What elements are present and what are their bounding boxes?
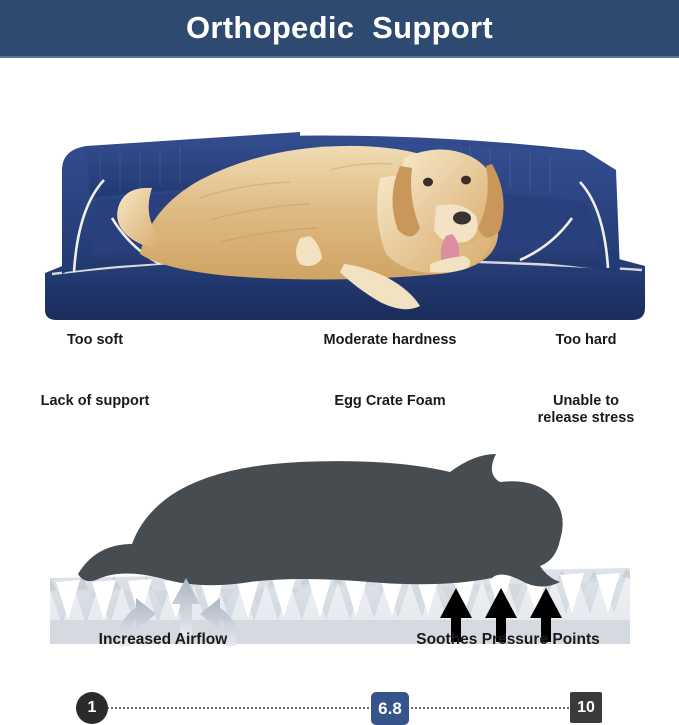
product-photo xyxy=(0,58,679,326)
scale-middle-bottom-label: Egg Crate Foam xyxy=(295,393,485,410)
scale-marker-moderate: 6.8 xyxy=(371,692,409,725)
header-banner: Orthopedic Support xyxy=(0,0,679,58)
scale-dotted-line xyxy=(96,707,580,709)
foam-diagram: Increased Airflow Soothes Pressure Point… xyxy=(0,432,679,658)
scale-marker-soft: 1 xyxy=(76,692,108,724)
product-infographic: Orthopedic Support xyxy=(0,0,679,658)
pressure-caption: Soothes Pressure Points xyxy=(378,631,638,649)
page-title: Orthopedic Support xyxy=(186,10,493,46)
hardness-scale: Too soft 1 Lack of support Moderate hard… xyxy=(0,332,679,430)
scale-left-top-label: Too soft xyxy=(25,332,165,349)
scale-left-bottom-label: Lack of support xyxy=(15,393,175,410)
airflow-caption: Increased Airflow xyxy=(38,631,288,649)
scale-right-top-label: Too hard xyxy=(516,332,656,349)
scale-marker-hard: 10 xyxy=(570,692,602,723)
scale-middle-top-label: Moderate hardness xyxy=(290,332,490,349)
scale-right-bottom-label: Unable to release stress xyxy=(510,393,662,426)
